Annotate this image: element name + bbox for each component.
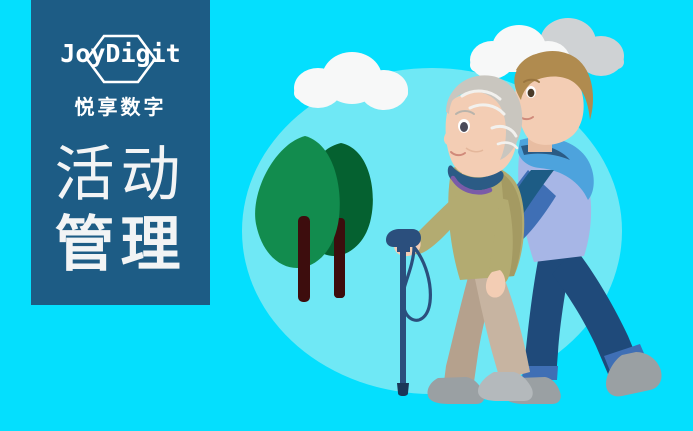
poster-canvas: JoyDigit 悦享数字 活动 管理 — [0, 0, 693, 431]
logo-block: JoyDigit 悦享数字 — [31, 36, 210, 119]
brand-panel: JoyDigit 悦享数字 活动 管理 — [31, 0, 210, 305]
logo-chinese-name: 悦享数字 — [31, 95, 210, 119]
page-title-line-1: 活动 — [31, 140, 210, 210]
page-title-line-2: 管理 — [31, 210, 210, 280]
page-title: 活动 管理 — [31, 140, 210, 280]
cloud-left-icon — [294, 52, 408, 110]
logo-wordmark: JoyDigit — [46, 40, 196, 68]
logo-lockup: JoyDigit — [46, 36, 196, 82]
